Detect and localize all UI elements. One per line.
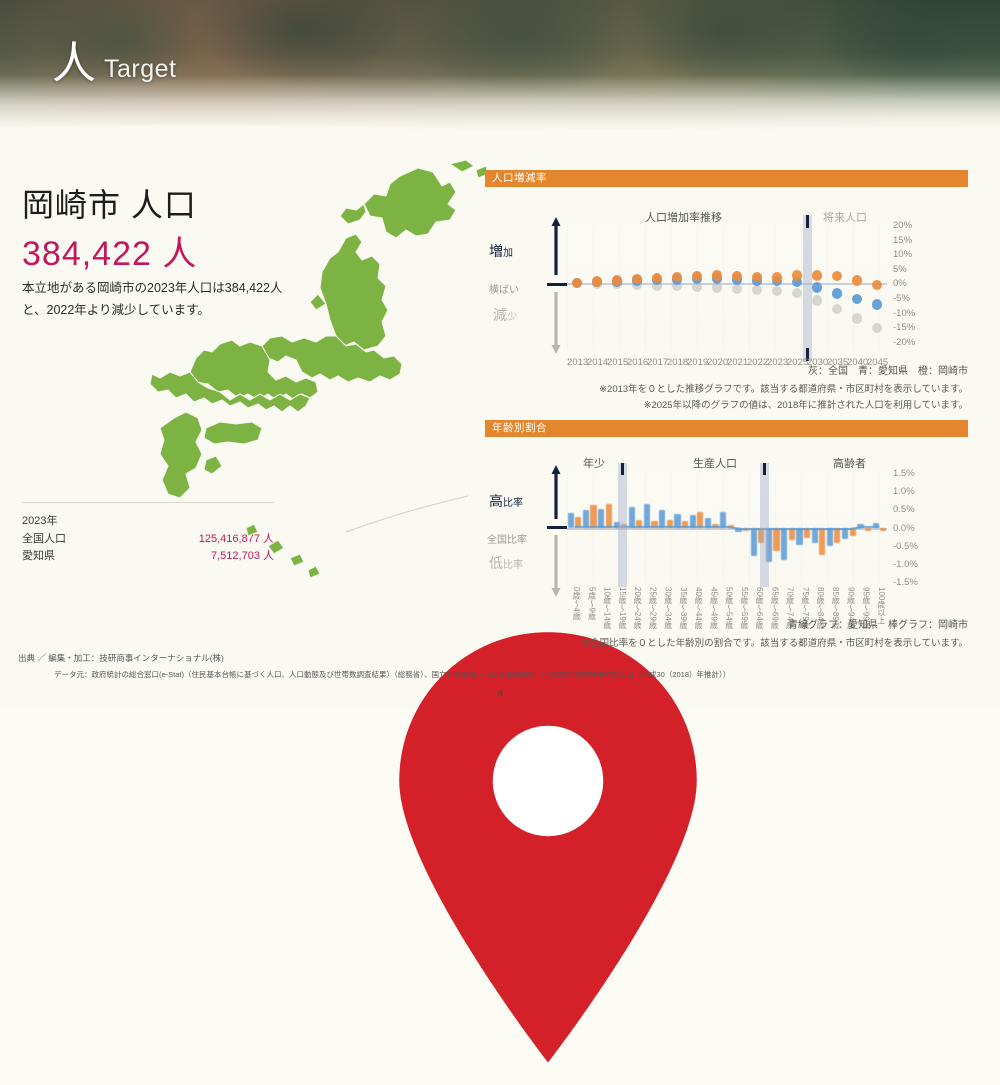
- axis-label-national-ratio: 全国比率: [487, 531, 527, 546]
- hero-banner: 人 Target: [0, 0, 1000, 150]
- axis-zero-marker: [547, 526, 569, 529]
- data-point: [872, 280, 882, 290]
- brand-name: Target: [104, 57, 176, 86]
- chart-age-distribution: 高比率 全国比率 低比率 年少 生産人口 高齢者: [485, 437, 968, 637]
- y-tick: -1.0%: [893, 560, 918, 570]
- arrow-up-icon: [551, 217, 561, 277]
- pref-line-overlay: [567, 473, 887, 583]
- okinawa-bracket-line: [346, 496, 468, 532]
- segment-label-youth: 年少: [583, 455, 605, 471]
- y-tick: -0.5%: [893, 542, 918, 552]
- y-tick: 5%: [893, 265, 907, 275]
- data-point: [872, 323, 882, 333]
- data-point: [792, 288, 802, 298]
- data-point: [832, 288, 842, 298]
- japan-map-svg: [150, 160, 490, 630]
- segment-label-elderly: 高齢者: [833, 455, 866, 471]
- footer-source: 出典 ／ 編集・加工：技研商事インターナショナル(株): [18, 652, 778, 664]
- y-tick: 20%: [893, 221, 912, 231]
- data-point: [732, 284, 742, 294]
- data-point: [612, 275, 622, 285]
- stats-label: 愛知県: [22, 548, 55, 565]
- y-tick: -5%: [893, 294, 910, 304]
- age-legend: 青線グラフ：愛知県 棒グラフ：岡崎市: [485, 616, 968, 631]
- axis-label-decrease: 減少: [493, 305, 517, 325]
- data-point: [572, 278, 582, 288]
- data-point: [872, 299, 882, 309]
- segment-label-working: 生産人口: [693, 455, 737, 471]
- axis-zero-marker: [547, 283, 569, 286]
- data-point: [592, 276, 602, 286]
- panel-age-distribution: 年齢別割合 高比率 全国比率 低比率 年少 生産人口 高齢者: [485, 420, 968, 637]
- growth-era-divider: [803, 215, 812, 361]
- data-point: [772, 272, 782, 282]
- data-point: [752, 285, 762, 295]
- y-tick: -20%: [893, 338, 915, 348]
- data-point: [812, 295, 822, 305]
- y-tick: 0.5%: [893, 505, 915, 515]
- data-point: [852, 313, 862, 323]
- data-point: [852, 275, 862, 285]
- age-divider-youth: [618, 463, 627, 587]
- y-tick: -1.5%: [893, 578, 918, 588]
- growth-note-1: ※2013年を０とした推移グラフです。該当する都道府県・市区町村を表示しています…: [485, 382, 968, 398]
- slide-page: 人 Target 岡崎市 人口 384,422 人 本立地がある岡崎市の2023…: [0, 0, 1000, 707]
- japan-map: [150, 160, 490, 630]
- data-point: [852, 294, 862, 304]
- axis-label-increase: 増加: [489, 241, 513, 261]
- data-point: [772, 286, 782, 296]
- hero-torn-edge: [0, 112, 1000, 150]
- panel-banner-growth: 人口増減率: [485, 170, 968, 187]
- person-glyph-icon: 人: [52, 42, 96, 86]
- data-point: [792, 270, 802, 280]
- arrow-up-icon: [551, 465, 561, 521]
- data-point: [812, 270, 822, 280]
- y-tick: -15%: [893, 323, 915, 333]
- age-plot-area: [567, 473, 887, 583]
- chart-title-future: 将来人口: [823, 209, 867, 225]
- axis-label-high-ratio: 高比率: [489, 491, 523, 511]
- stats-label: 全国人口: [22, 531, 66, 548]
- panel-banner-age: 年齢別割合: [485, 420, 968, 437]
- data-point: [712, 282, 722, 292]
- data-point: [832, 271, 842, 281]
- age-note: ※全国比率を０とした年齢別の割合です。該当する都道府県・市区町村を表示しています…: [485, 636, 968, 652]
- page-number: 4: [0, 688, 1000, 700]
- data-point: [712, 270, 722, 280]
- data-point: [812, 282, 822, 292]
- footer: 出典 ／ 編集・加工：技研商事インターナショナル(株) データ元：政府統計の総合…: [18, 652, 778, 680]
- y-tick: 0.0%: [893, 524, 915, 534]
- growth-legend: 灰：全国 青：愛知県 橙：岡崎市: [485, 362, 968, 377]
- y-tick: 15%: [893, 236, 912, 246]
- arrow-down-icon: [551, 535, 561, 597]
- location-pin-icon: [378, 615, 718, 1085]
- y-tick: 10%: [893, 250, 912, 260]
- y-tick: 1.5%: [893, 469, 915, 479]
- y-tick: 1.0%: [893, 487, 915, 497]
- brand-logo: 人 Target: [52, 42, 176, 86]
- panel-population-growth: 人口増減率 増加 横ばい 減少 人口増加率推移 将来人口: [485, 170, 968, 387]
- growth-plot-area: [567, 225, 887, 351]
- data-point: [832, 304, 842, 314]
- axis-label-low-ratio: 低比率: [489, 553, 523, 573]
- growth-note-2: ※2025年以降のグラフの値は、2018年に推計された人口を利用しています。: [485, 398, 968, 414]
- y-tick: -10%: [893, 309, 915, 319]
- axis-label-flat: 横ばい: [489, 281, 519, 296]
- arrow-down-icon: [551, 292, 561, 354]
- chart-population-growth: 増加 横ばい 減少 人口増加率推移 将来人口: [485, 187, 968, 387]
- y-tick: 0%: [893, 279, 907, 289]
- chart-title-history: 人口増加率推移: [645, 209, 722, 225]
- age-divider-working: [760, 463, 769, 587]
- footer-data-origin: データ元：政府統計の総合窓口(e-Stat)（住民基本台帳に基づく人口、人口動態…: [18, 669, 778, 680]
